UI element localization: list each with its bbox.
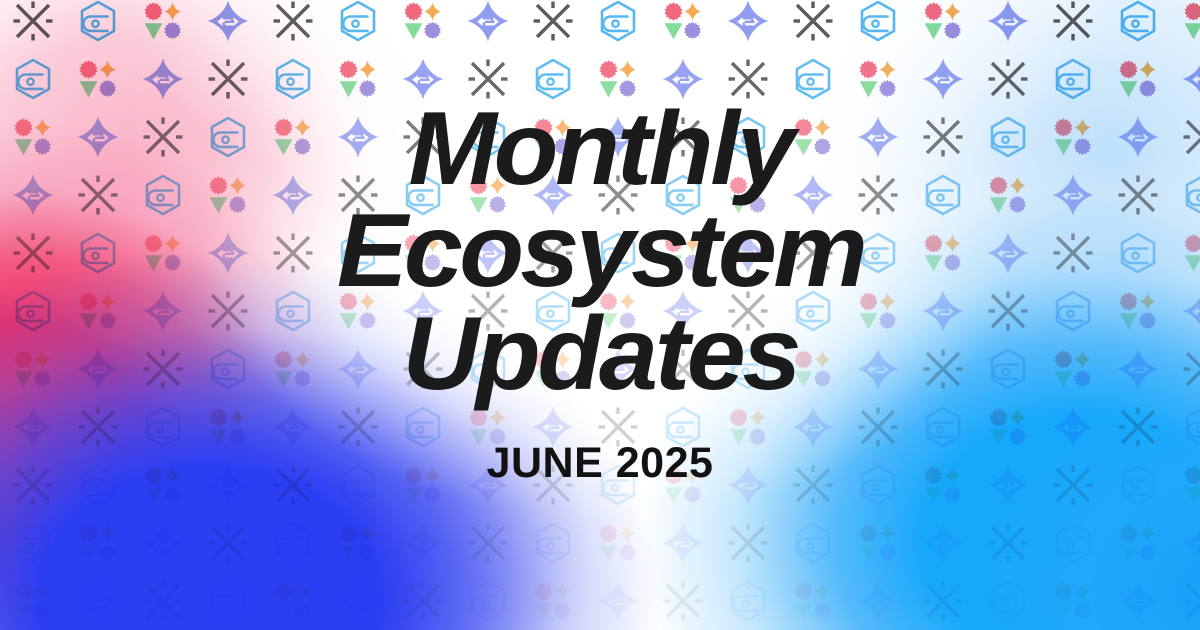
page-title-line-1: Monthly xyxy=(336,98,863,200)
page-title-line-3: Updates xyxy=(336,303,863,405)
ecosystem-updates-banner: Monthly Ecosystem Updates JUNE 2025 xyxy=(0,0,1200,630)
banner-content: Monthly Ecosystem Updates JUNE 2025 xyxy=(0,0,1200,630)
subtitle-wrapper: JUNE 2025 xyxy=(487,439,714,488)
issue-date-subtitle: JUNE 2025 xyxy=(487,439,714,488)
page-title: Monthly Ecosystem Updates xyxy=(336,0,863,405)
page-title-line-2: Ecosystem xyxy=(336,200,863,302)
